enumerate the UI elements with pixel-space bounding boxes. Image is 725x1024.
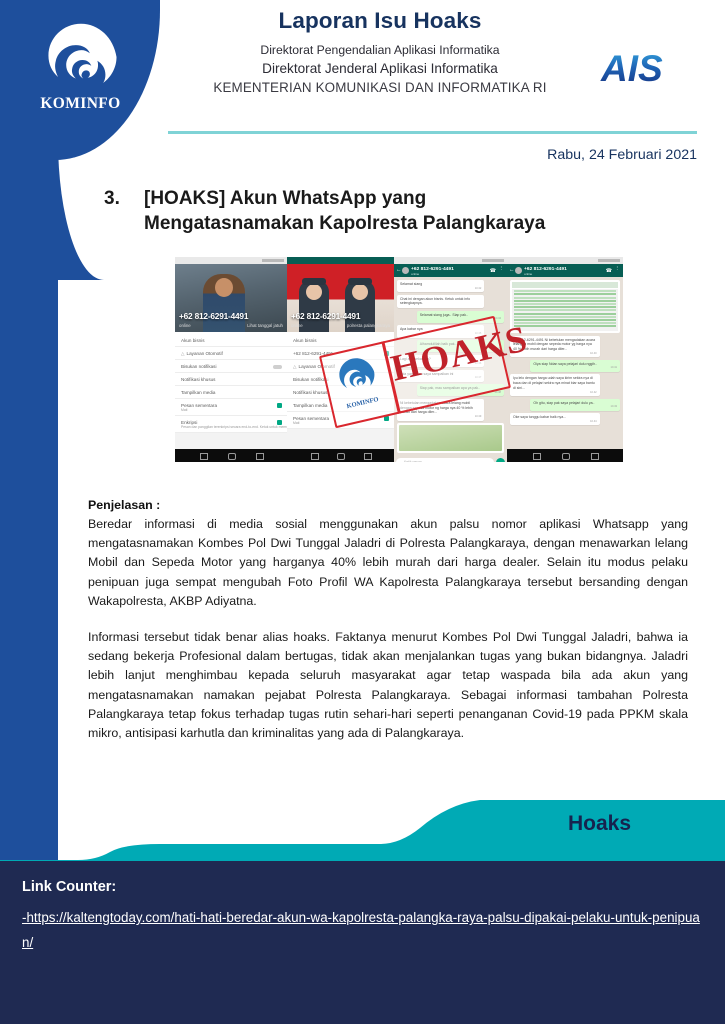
chat-header: ← +62 812-6291-4491 online ☎ ⋮ (394, 264, 507, 277)
android-status-bar (394, 257, 507, 264)
chat-bubble: Selamat siang10.32 (397, 280, 484, 292)
back-arrow-icon[interactable]: ← (509, 268, 515, 274)
header-subtitle-2: Direktorat Jenderal Aplikasi Informatika (160, 61, 600, 76)
android-nav-bar (507, 449, 623, 462)
ais-logo-icon: AIS (600, 46, 686, 92)
footer-bar: Link Counter: -https://kaltengtoday.com/… (0, 861, 725, 1024)
contact-profile-photo-1: +62 812-6291-4491 online Lihat tanggal j… (175, 264, 287, 332)
chat-contact-status: online (524, 272, 532, 276)
chat-bubble: Oh gitu, siap pak saya pelajari dulu ya.… (530, 399, 620, 411)
contact-number-overlay: +62 812-6291-4491 (291, 311, 360, 321)
overflow-menu-icon[interactable]: ⋮ (615, 268, 621, 272)
chat-image-attachment[interactable] (397, 423, 504, 453)
kominfo-swirl-icon (332, 352, 380, 398)
list-item[interactable]: Notifikasi khusus (175, 373, 287, 386)
article-title-text: [HOAKS] Akun WhatsApp yang Mengatasnamak… (144, 186, 545, 236)
chat-bubble: Iyu lelo dengan harga udah saya kirim se… (510, 374, 600, 396)
article-title-line1: [HOAKS] Akun WhatsApp yang (144, 188, 426, 209)
evidence-screenshot-collage: +62 812-6291-4491 online Lihat tanggal j… (175, 257, 623, 462)
explanation-paragraph-1: Beredar informasi di media sosial menggu… (88, 515, 688, 611)
chat-input-bar-1: Ketik pesan (394, 455, 507, 462)
chat-bubble: Oiya siap Ndan saya pelajari dulu nggih.… (530, 360, 620, 372)
android-nav-bar (287, 449, 394, 462)
document-attachment[interactable] (510, 280, 620, 333)
header-text-block: Laporan Isu Hoaks Direktorat Pengendalia… (160, 8, 600, 95)
contact-extra-overlay: polresta palangkaraya (347, 323, 390, 328)
list-item[interactable]: Bisukan notifikasi (175, 360, 287, 373)
avatar (402, 267, 409, 274)
chat-bubble: Chat ini dengan akun bisnis. Ketuk untuk… (397, 295, 484, 308)
category-badge: Hoaks (568, 812, 631, 836)
android-status-bar (507, 257, 623, 264)
android-status-bar (287, 257, 394, 264)
kominfo-swirl-icon (44, 20, 118, 94)
auction-table-image (512, 289, 618, 331)
article-title-line2: Mengatasnamakan Kapolresta Palangkaraya (144, 213, 545, 234)
list-item[interactable]: Tampilkan media (175, 386, 287, 399)
chat-header: ← +62 812-6291-4491 online ☎ ⋮ (507, 264, 623, 277)
link-counter-label: Link Counter: (22, 879, 116, 895)
officer-figure (299, 280, 329, 332)
contact-status-overlay: online (291, 323, 303, 328)
lock-icon (277, 420, 282, 425)
link-counter-url[interactable]: -https://kaltengtoday.com/hati-hati-bere… (22, 906, 702, 956)
header-subtitle-1: Direktorat Pengendalian Aplikasi Informa… (160, 43, 600, 57)
chat-bubble: Oke saya tunggu kabar baik nya...10.44 (510, 413, 600, 425)
kominfo-logo: KOMINFO (28, 20, 133, 130)
avatar (515, 267, 522, 274)
whatsapp-chat-2: ← +62 812-6291-4491 online ☎ ⋮ (507, 264, 623, 462)
header-divider (168, 131, 697, 134)
article-title: 3. [HOAKS] Akun WhatsApp yang Mengatasna… (104, 186, 704, 236)
kominfo-wordmark: KOMINFO (28, 95, 133, 113)
ais-logo: AIS (600, 46, 686, 92)
list-item[interactable]: Pesan sementaraMati (175, 399, 287, 416)
contact-options-list-1: Akun bisnis △Layanan Otomotif Bisukan no… (175, 332, 287, 433)
explanation-paragraph-2: Informasi tersebut tidak benar alias hoa… (88, 628, 688, 743)
list-item[interactable]: Akun bisnis (175, 334, 287, 347)
chat-contact-name: +62 812-6291-4491 (524, 267, 567, 272)
report-page: KOMINFO Laporan Isu Hoaks Direktorat Pen… (0, 0, 725, 1024)
page-title: Laporan Isu Hoaks (160, 8, 600, 34)
lock-icon (277, 403, 282, 408)
svg-text:AIS: AIS (600, 48, 663, 89)
chat-message-input[interactable]: Ketik pesan (396, 458, 494, 463)
collage-panel-contact-1: +62 812-6291-4491 online Lihat tanggal j… (175, 257, 287, 462)
list-item[interactable]: EnkripsiPesan dan panggilan terenkripsi … (175, 416, 287, 433)
left-rail-curve (58, 140, 104, 280)
overflow-menu-icon[interactable]: ⋮ (499, 268, 505, 272)
contact-number-overlay: +62 812-6291-4491 (179, 311, 248, 321)
back-arrow-icon[interactable]: ← (396, 268, 402, 274)
toggle-switch[interactable] (273, 365, 282, 369)
header-subtitle-3: KEMENTERIAN KOMUNIKASI DAN INFORMATIKA R… (160, 80, 600, 95)
call-icon[interactable]: ☎ (606, 268, 612, 274)
chat-contact-name: +62 812-6291-4491 (411, 267, 454, 272)
contact-extra-overlay: Lihat tanggal jatuh (247, 323, 283, 328)
contact-profile-photo-2: +62 812-6291-4491 online polresta palang… (287, 264, 394, 332)
call-icon[interactable]: ☎ (490, 268, 496, 274)
article-number: 3. (104, 186, 144, 236)
chat-contact-status: online (411, 272, 419, 276)
explanation-heading: Penjelasan : (88, 498, 688, 512)
mic-icon[interactable] (496, 458, 505, 463)
android-nav-bar (175, 449, 287, 462)
report-date: Rabu, 24 Februari 2021 (547, 147, 697, 163)
chat-messages-2: +62 812-6291-4491 Ni kebetulan mengadaka… (507, 277, 623, 455)
contact-status-overlay: online (179, 323, 191, 328)
list-item[interactable]: △Layanan Otomotif (175, 347, 287, 360)
android-status-bar (175, 257, 287, 264)
